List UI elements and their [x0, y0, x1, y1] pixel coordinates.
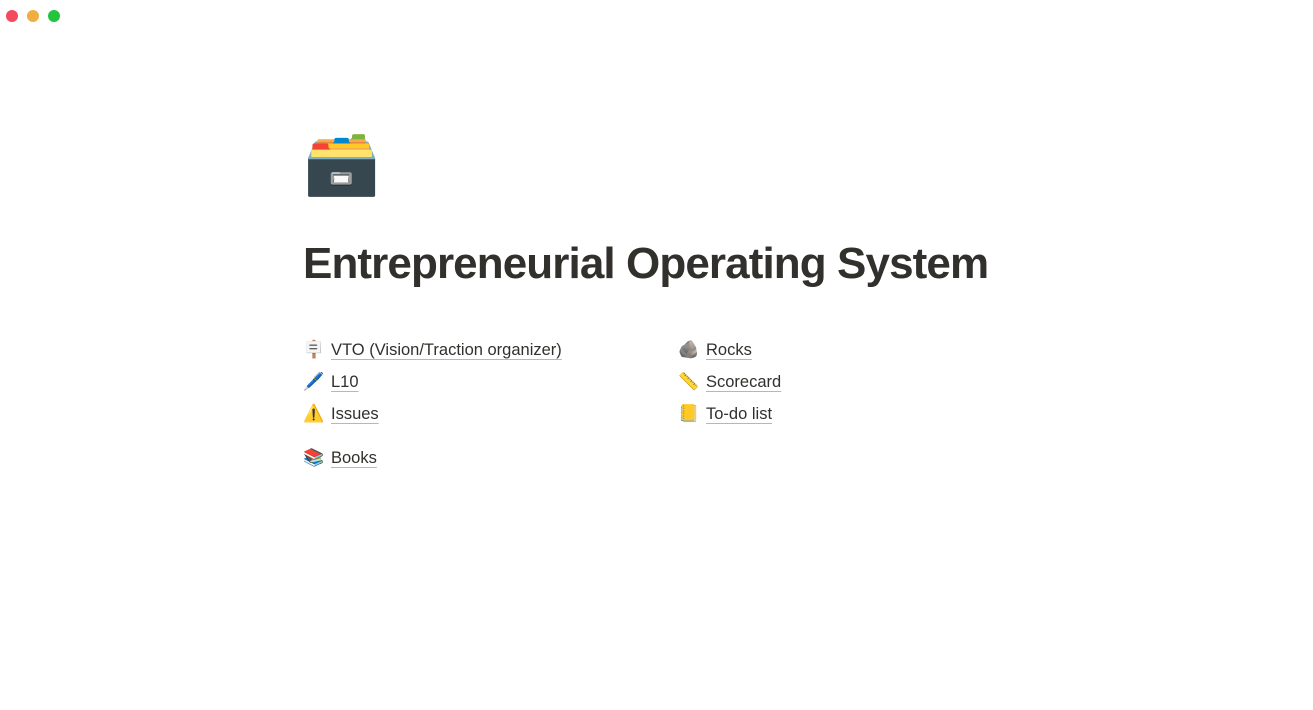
rock-icon: 🪨 [678, 340, 698, 360]
close-window-button[interactable] [6, 10, 18, 22]
maximize-window-button[interactable] [48, 10, 60, 22]
page-canvas: 🗃️ Entrepreneurial Operating System 🪧 VT… [0, 32, 1313, 710]
list-item-todo[interactable]: 📒 To-do list [678, 398, 1098, 430]
list-item-books[interactable]: 📚 Books [303, 442, 678, 474]
minimize-window-button[interactable] [27, 10, 39, 22]
link-label-scorecard[interactable]: Scorecard [706, 371, 781, 393]
list-item-rocks[interactable]: 🪨 Rocks [678, 334, 1098, 366]
list-item-l10[interactable]: 🖊️ L10 [303, 366, 678, 398]
placard-icon: 🪧 [303, 340, 323, 360]
link-label-books[interactable]: Books [331, 447, 377, 469]
list-item-issues[interactable]: ⚠️ Issues [303, 398, 678, 430]
right-link-column: 🪨 Rocks 📏 Scorecard 📒 To-do list [678, 334, 1098, 474]
link-label-l10[interactable]: L10 [331, 371, 359, 393]
link-columns: 🪧 VTO (Vision/Traction organizer) 🖊️ L10… [303, 334, 1203, 474]
pen-icon: 🖊️ [303, 372, 323, 392]
list-item-vto[interactable]: 🪧 VTO (Vision/Traction organizer) [303, 334, 678, 366]
page-content: 🗃️ Entrepreneurial Operating System 🪧 VT… [303, 132, 1243, 474]
page-title: Entrepreneurial Operating System [303, 238, 1243, 290]
card-index-dividers-icon[interactable]: 🗃️ [303, 132, 1243, 200]
books-icon: 📚 [303, 448, 323, 468]
link-label-issues[interactable]: Issues [331, 403, 379, 425]
left-link-column: 🪧 VTO (Vision/Traction organizer) 🖊️ L10… [303, 334, 678, 474]
straight-ruler-icon: 📏 [678, 372, 698, 392]
link-label-vto[interactable]: VTO (Vision/Traction organizer) [331, 339, 562, 361]
window-titlebar [0, 0, 1313, 32]
link-label-todo[interactable]: To-do list [706, 403, 772, 425]
list-item-scorecard[interactable]: 📏 Scorecard [678, 366, 1098, 398]
window-controls [6, 10, 60, 22]
ledger-icon: 📒 [678, 404, 698, 424]
warning-icon: ⚠️ [303, 404, 323, 424]
link-label-rocks[interactable]: Rocks [706, 339, 752, 361]
